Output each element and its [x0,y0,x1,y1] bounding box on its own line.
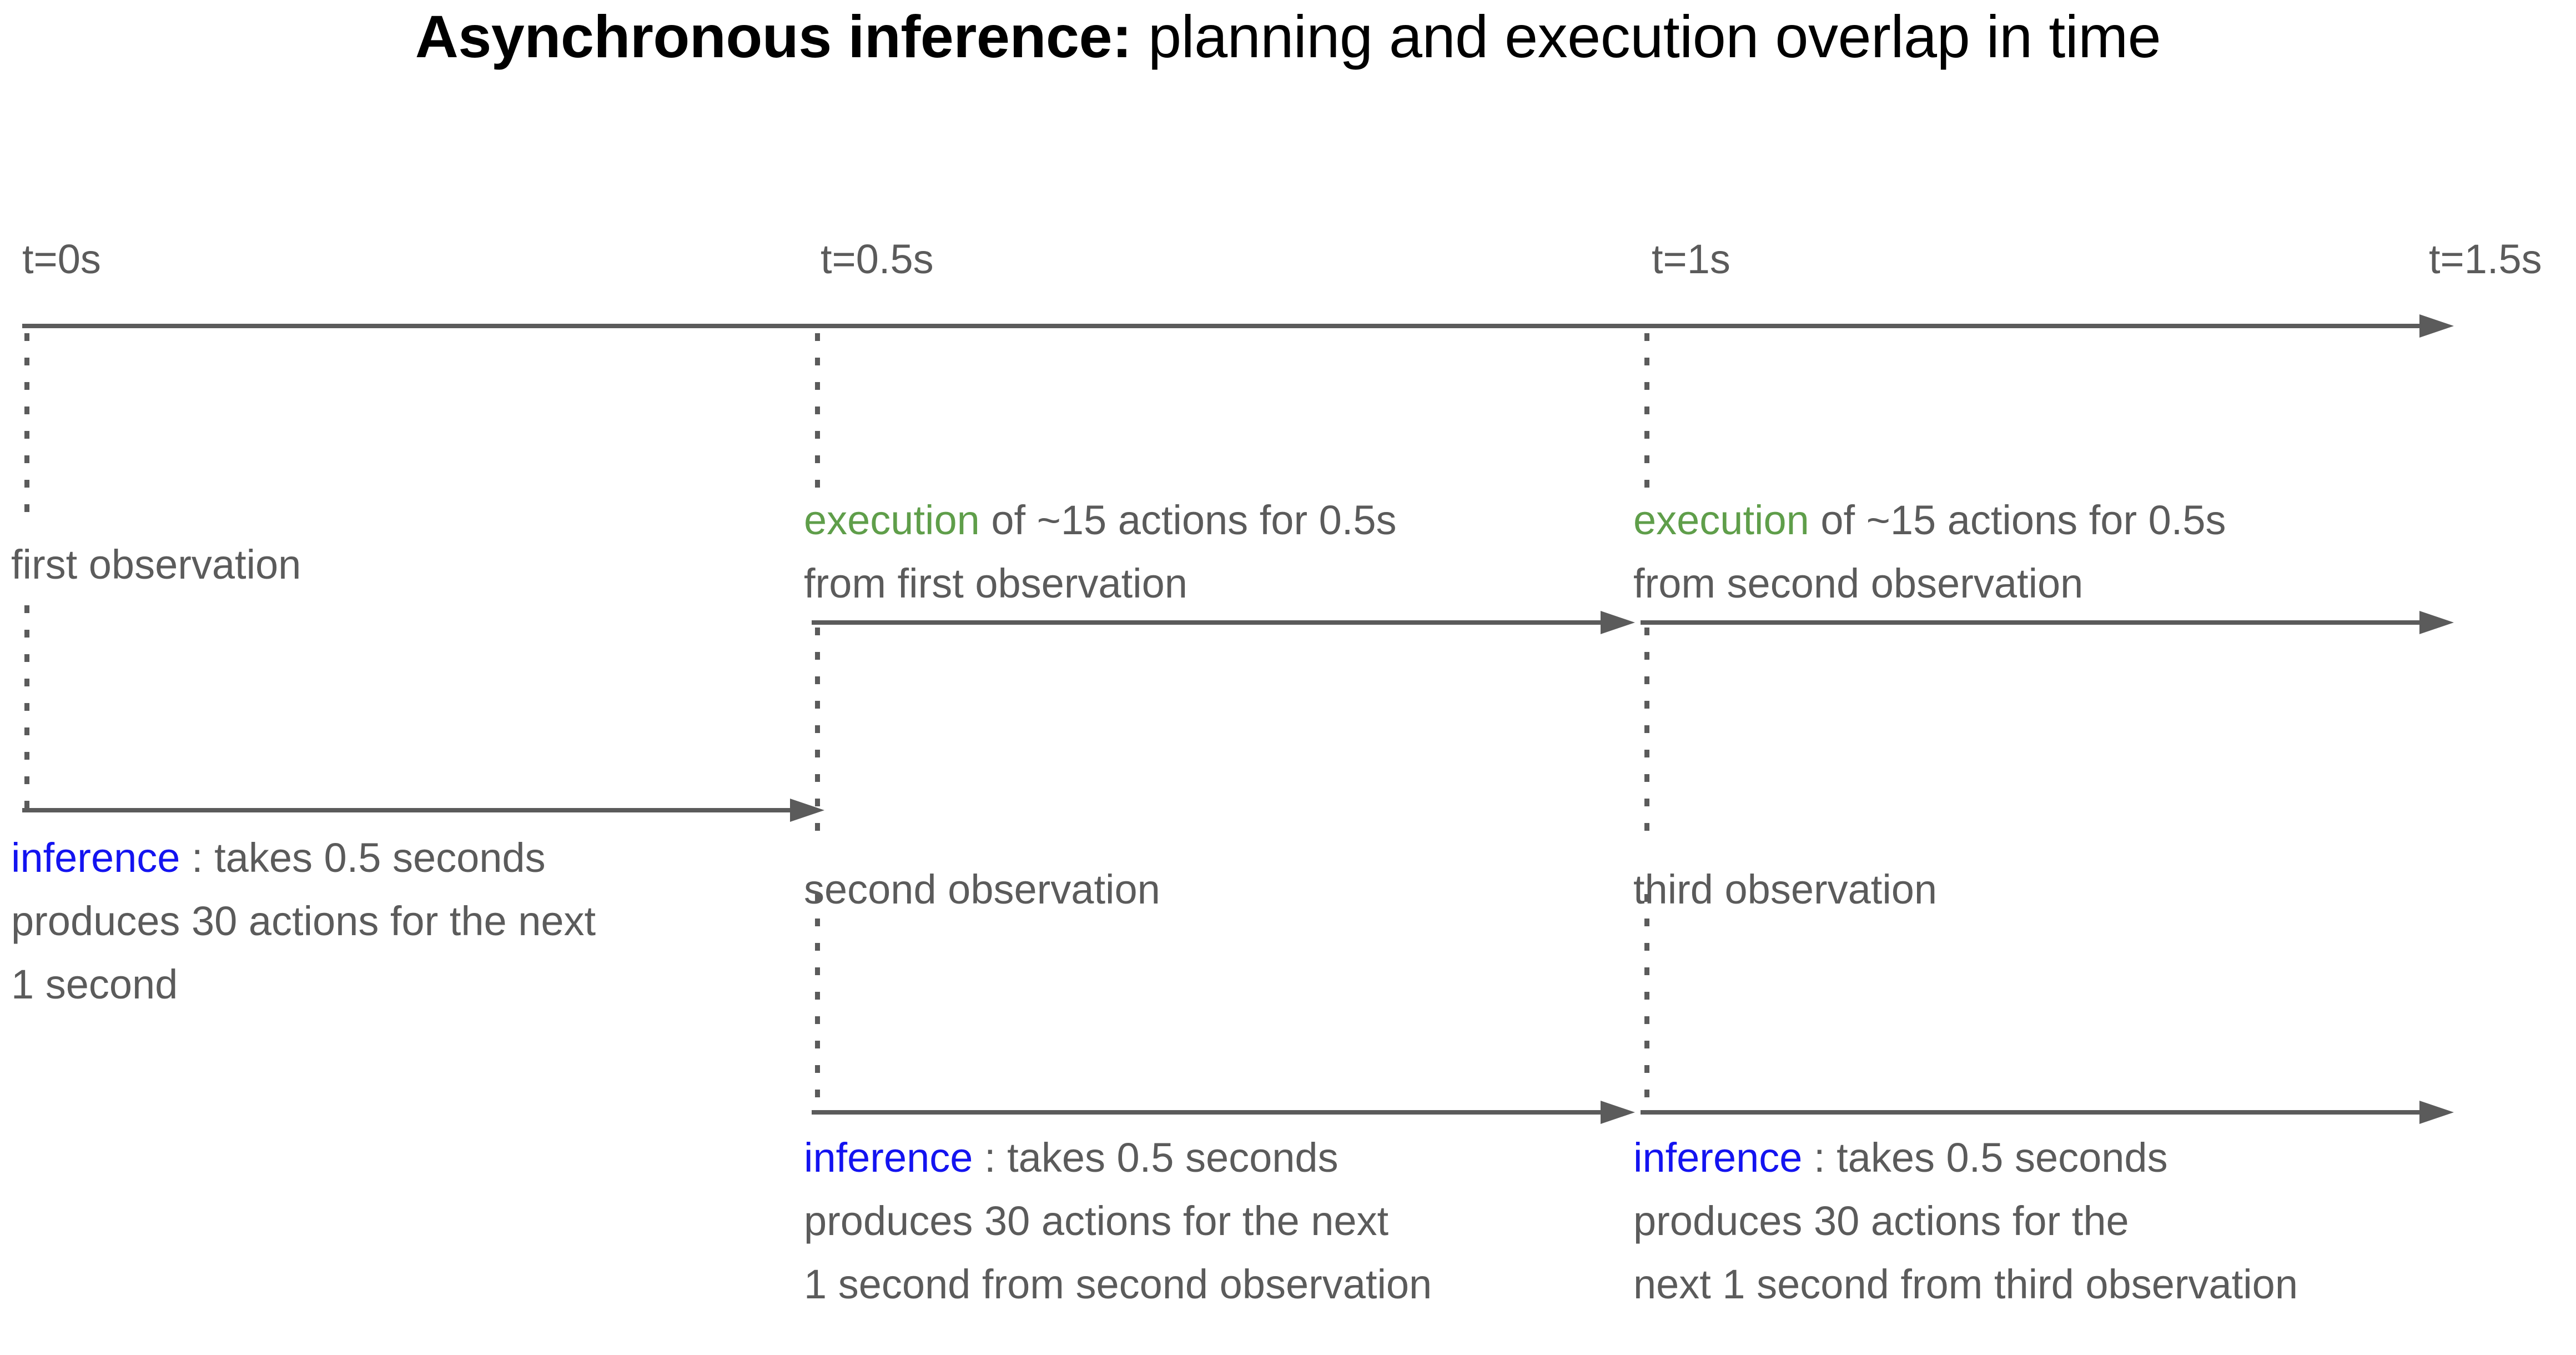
dotted-guide-1s-mid [1644,628,1649,844]
inference-keyword: inference [1633,1135,1802,1181]
observation-label-first: first observation [11,533,301,596]
execution-line-1: of ~15 actions for 0.5s [980,497,1397,543]
observation-label-second: second observation [804,858,1160,921]
execution-line-1: of ~15 actions for 0.5s [1809,497,2226,543]
inference-line-3: 1 second [11,961,178,1007]
execution-line-2: from first observation [804,560,1188,606]
inference-arrow-second [812,1101,1635,1124]
time-tick-label-0p5s: t=0.5s [821,239,934,280]
dotted-guide-0s-lower [24,605,29,811]
inference-line-1: : takes 0.5 seconds [973,1135,1338,1181]
execution-arrowhead-icon [2419,611,2454,634]
execution-arrow-shaft [812,620,1601,625]
inference-line-1: : takes 0.5 seconds [180,835,545,881]
dotted-guide-1s-lower [1644,894,1649,1111]
execution-keyword: execution [804,497,980,543]
page-title-rest: planning and execution overlap in time [1132,3,2161,70]
execution-block-second: execution of ~15 actions for 0.5sfrom se… [1633,489,2226,615]
inference-arrow-shaft [812,1110,1601,1115]
time-tick-label-0s: t=0s [22,239,101,280]
dotted-guide-1s-upper [1644,333,1649,494]
time-tick-label-1p5s: t=1.5s [2429,239,2542,280]
inference-keyword: inference [11,835,180,881]
inference-block-first: inference : takes 0.5 secondsproduces 30… [11,826,596,1016]
inference-line-1: : takes 0.5 seconds [1802,1135,2167,1181]
inference-arrow-shaft [22,808,790,812]
inference-arrowhead-icon [1601,1101,1635,1124]
observation-label-third: third observation [1633,858,1937,921]
inference-line-3: 1 second from second observation [804,1261,1432,1307]
inference-keyword: inference [804,1135,973,1181]
page-title-emphasis: Asynchronous inference: [415,3,1132,70]
execution-arrow-shaft [1641,620,2419,625]
timeline-shaft [22,324,2419,328]
time-tick-label-1s: t=1s [1652,239,1730,280]
execution-line-2: from second observation [1633,560,2083,606]
main-timeline-arrow [22,314,2454,338]
dotted-guide-0p5s-lower [815,894,820,1111]
inference-line-2: produces 30 actions for the next [804,1198,1388,1244]
execution-arrow-first [812,611,1635,634]
inference-arrow-shaft [1641,1110,2419,1115]
execution-arrow-second [1641,611,2454,634]
page-title: Asynchronous inference: planning and exe… [0,7,2576,67]
inference-line-3: next 1 second from third observation [1633,1261,2298,1307]
timeline-arrowhead-icon [2419,314,2454,338]
dotted-guide-0s-upper [24,333,29,516]
inference-line-2: produces 30 actions for the next [11,898,596,944]
execution-keyword: execution [1633,497,1809,543]
execution-block-first: execution of ~15 actions for 0.5sfrom fi… [804,489,1397,615]
execution-arrowhead-icon [1601,611,1635,634]
inference-arrow-first [22,799,824,822]
inference-arrowhead-icon [2419,1101,2454,1124]
inference-arrow-third [1641,1101,2454,1124]
inference-arrowhead-icon [790,799,824,822]
inference-line-2: produces 30 actions for the [1633,1198,2129,1244]
inference-block-third: inference : takes 0.5 secondsproduces 30… [1633,1126,2298,1316]
dotted-guide-0p5s-upper [815,333,820,494]
inference-block-second: inference : takes 0.5 secondsproduces 30… [804,1126,1432,1316]
